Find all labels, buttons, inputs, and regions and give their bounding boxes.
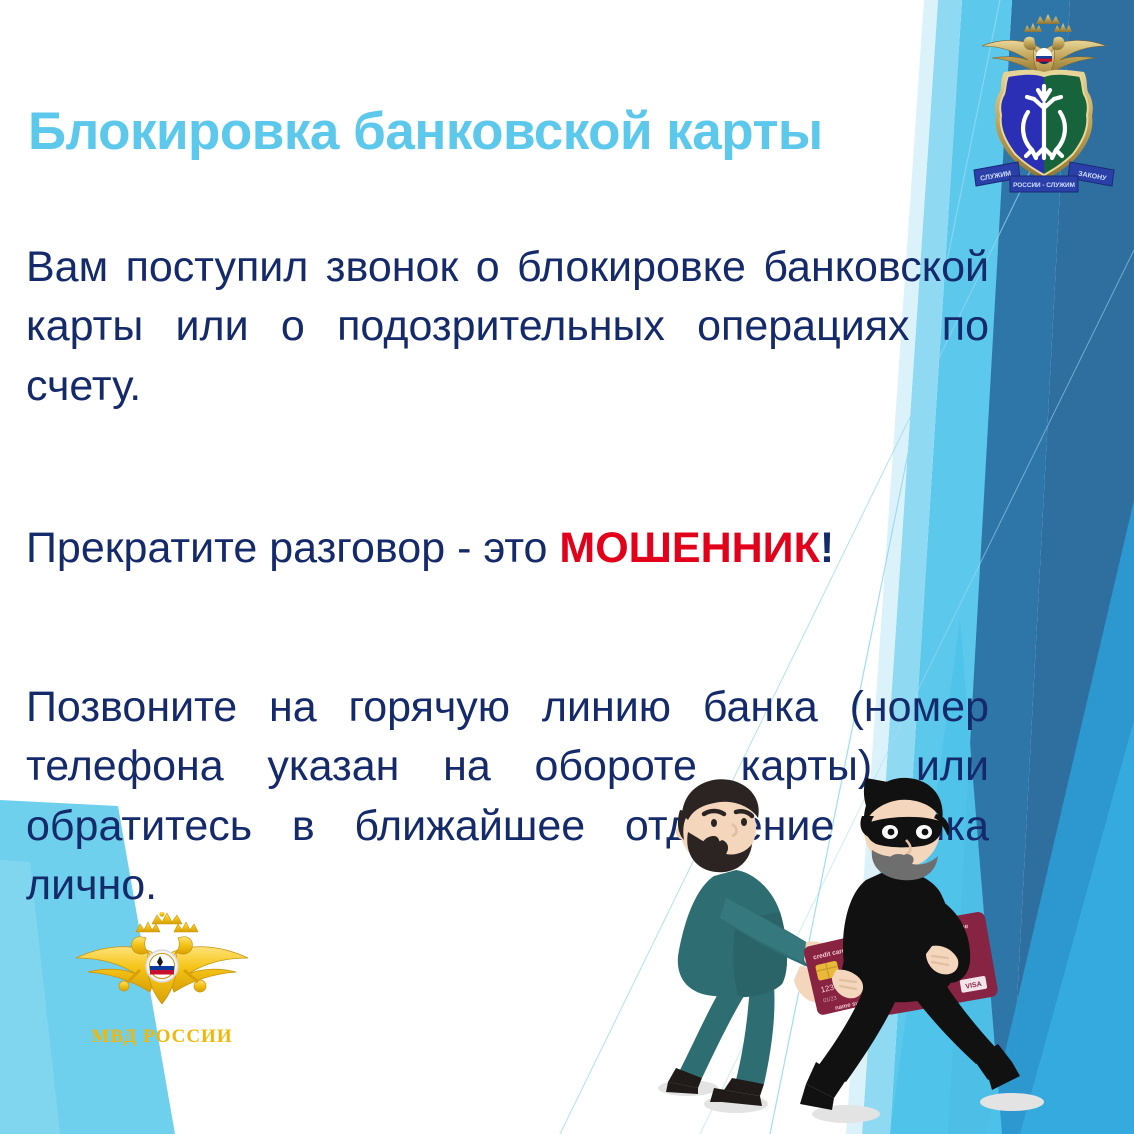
slide-title: Блокировка банковской карты [28,104,928,160]
paragraph-spacer-2 [26,638,989,678]
double-headed-eagle-icon [62,912,262,1022]
eagle-crest-icon [982,14,1106,82]
shadow-thief-front [980,1093,1044,1111]
victim-figure [666,779,838,1106]
scam-highlight: МОШЕННИК [559,524,819,572]
motto-center: РОССИИ - СЛУЖИМ [1013,182,1075,189]
slide-canvas: Блокировка банковской карты Вам поступил… [0,0,1134,1134]
umvd-yugra-emblem: СЛУЖИМ РОССИИ - СЛУЖИМ ЗАКОНУ [960,12,1128,204]
card-theft-illustration: credit card 1234 5678 01/23 name surname… [640,770,1060,1134]
mvd-russia-emblem: МВД РОССИИ [62,912,262,1048]
paragraph-2: Прекратите разговор - это МОШЕННИК! [26,519,989,638]
paragraph-2-prefix: Прекратите разговор - это [26,524,559,572]
paragraph-1: Вам поступил звонок о блокировке банковс… [26,238,989,475]
mvd-label: МВД РОССИИ [62,1026,262,1048]
paragraph-spacer [26,475,989,519]
paragraph-2-suffix: ! [820,524,834,572]
